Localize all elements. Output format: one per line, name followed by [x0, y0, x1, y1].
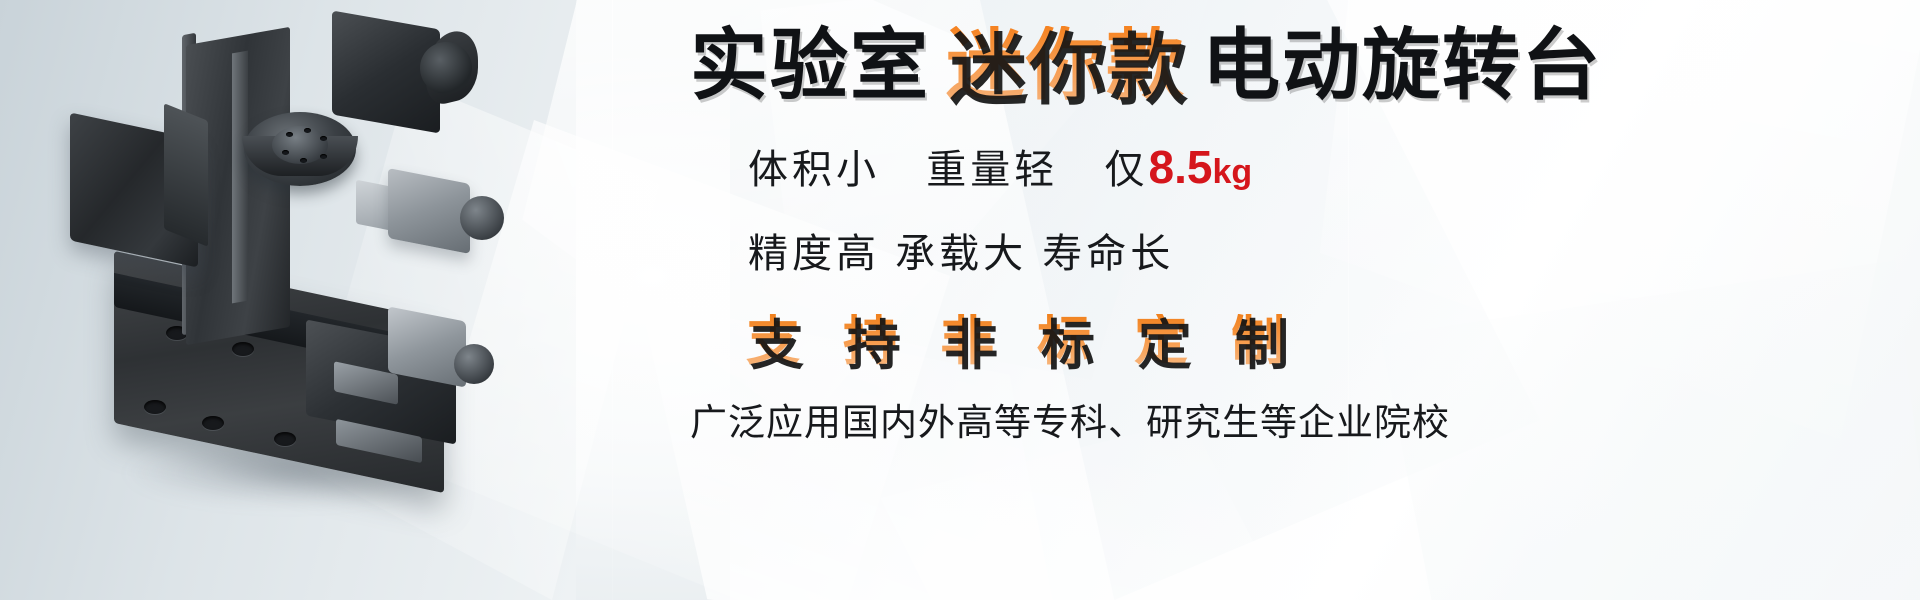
features-line-1: 体积小 重量轻 仅8.5kg	[748, 144, 1890, 190]
disc-hole	[300, 158, 307, 163]
linear-rail	[232, 51, 248, 304]
headline-highlight: 迷你款	[946, 26, 1186, 104]
copy-block: 实验室 迷你款 电动旋转台 体积小 重量轻 仅8.5kg 精度高 承载大 寿命长…	[690, 26, 1890, 571]
feature-lightweight: 重量轻	[926, 148, 1058, 192]
base-hole	[274, 432, 296, 446]
disc-hole	[320, 154, 327, 159]
base-hole	[144, 400, 166, 414]
base-hole	[232, 342, 254, 356]
servo-motor-lower-cap	[454, 344, 494, 384]
feature-lifespan: 寿命长	[1042, 232, 1174, 276]
promo-banner: 实验室 迷你款 电动旋转台 体积小 重量轻 仅8.5kg 精度高 承载大 寿命长…	[0, 0, 1920, 600]
weight-prefix: 仅	[1105, 148, 1149, 192]
custom-order-note: 支 持 非 标 定 制	[746, 314, 1890, 368]
feature-compact: 体积小	[748, 148, 880, 192]
stepper-motor-left-face	[164, 103, 208, 247]
weight-value: 8.5	[1149, 141, 1213, 193]
headline-part-1: 实验室	[690, 26, 930, 104]
disc-hole	[320, 136, 327, 141]
headline-part-2: 电动旋转台	[1202, 26, 1602, 104]
background-edge-line-1	[612, 0, 613, 600]
base-hole	[202, 416, 224, 430]
feature-load: 承载大	[895, 232, 1027, 276]
disc-hole	[286, 132, 293, 137]
product-image	[36, 8, 556, 593]
upper-bearing-ring	[420, 42, 472, 94]
headline: 实验室 迷你款 电动旋转台	[690, 26, 1890, 104]
disc-hole	[282, 150, 289, 155]
features-line-2: 精度高 承载大 寿命长	[748, 234, 1890, 274]
weight-unit: kg	[1212, 153, 1252, 191]
servo-motor-upper-cap	[460, 196, 504, 240]
servo-motor-upper	[388, 168, 470, 254]
tagline: 广泛应用国内外高等专科、研究生等企业院校	[690, 404, 1890, 441]
disc-hole	[304, 128, 311, 133]
feature-precision: 精度高	[748, 232, 880, 276]
